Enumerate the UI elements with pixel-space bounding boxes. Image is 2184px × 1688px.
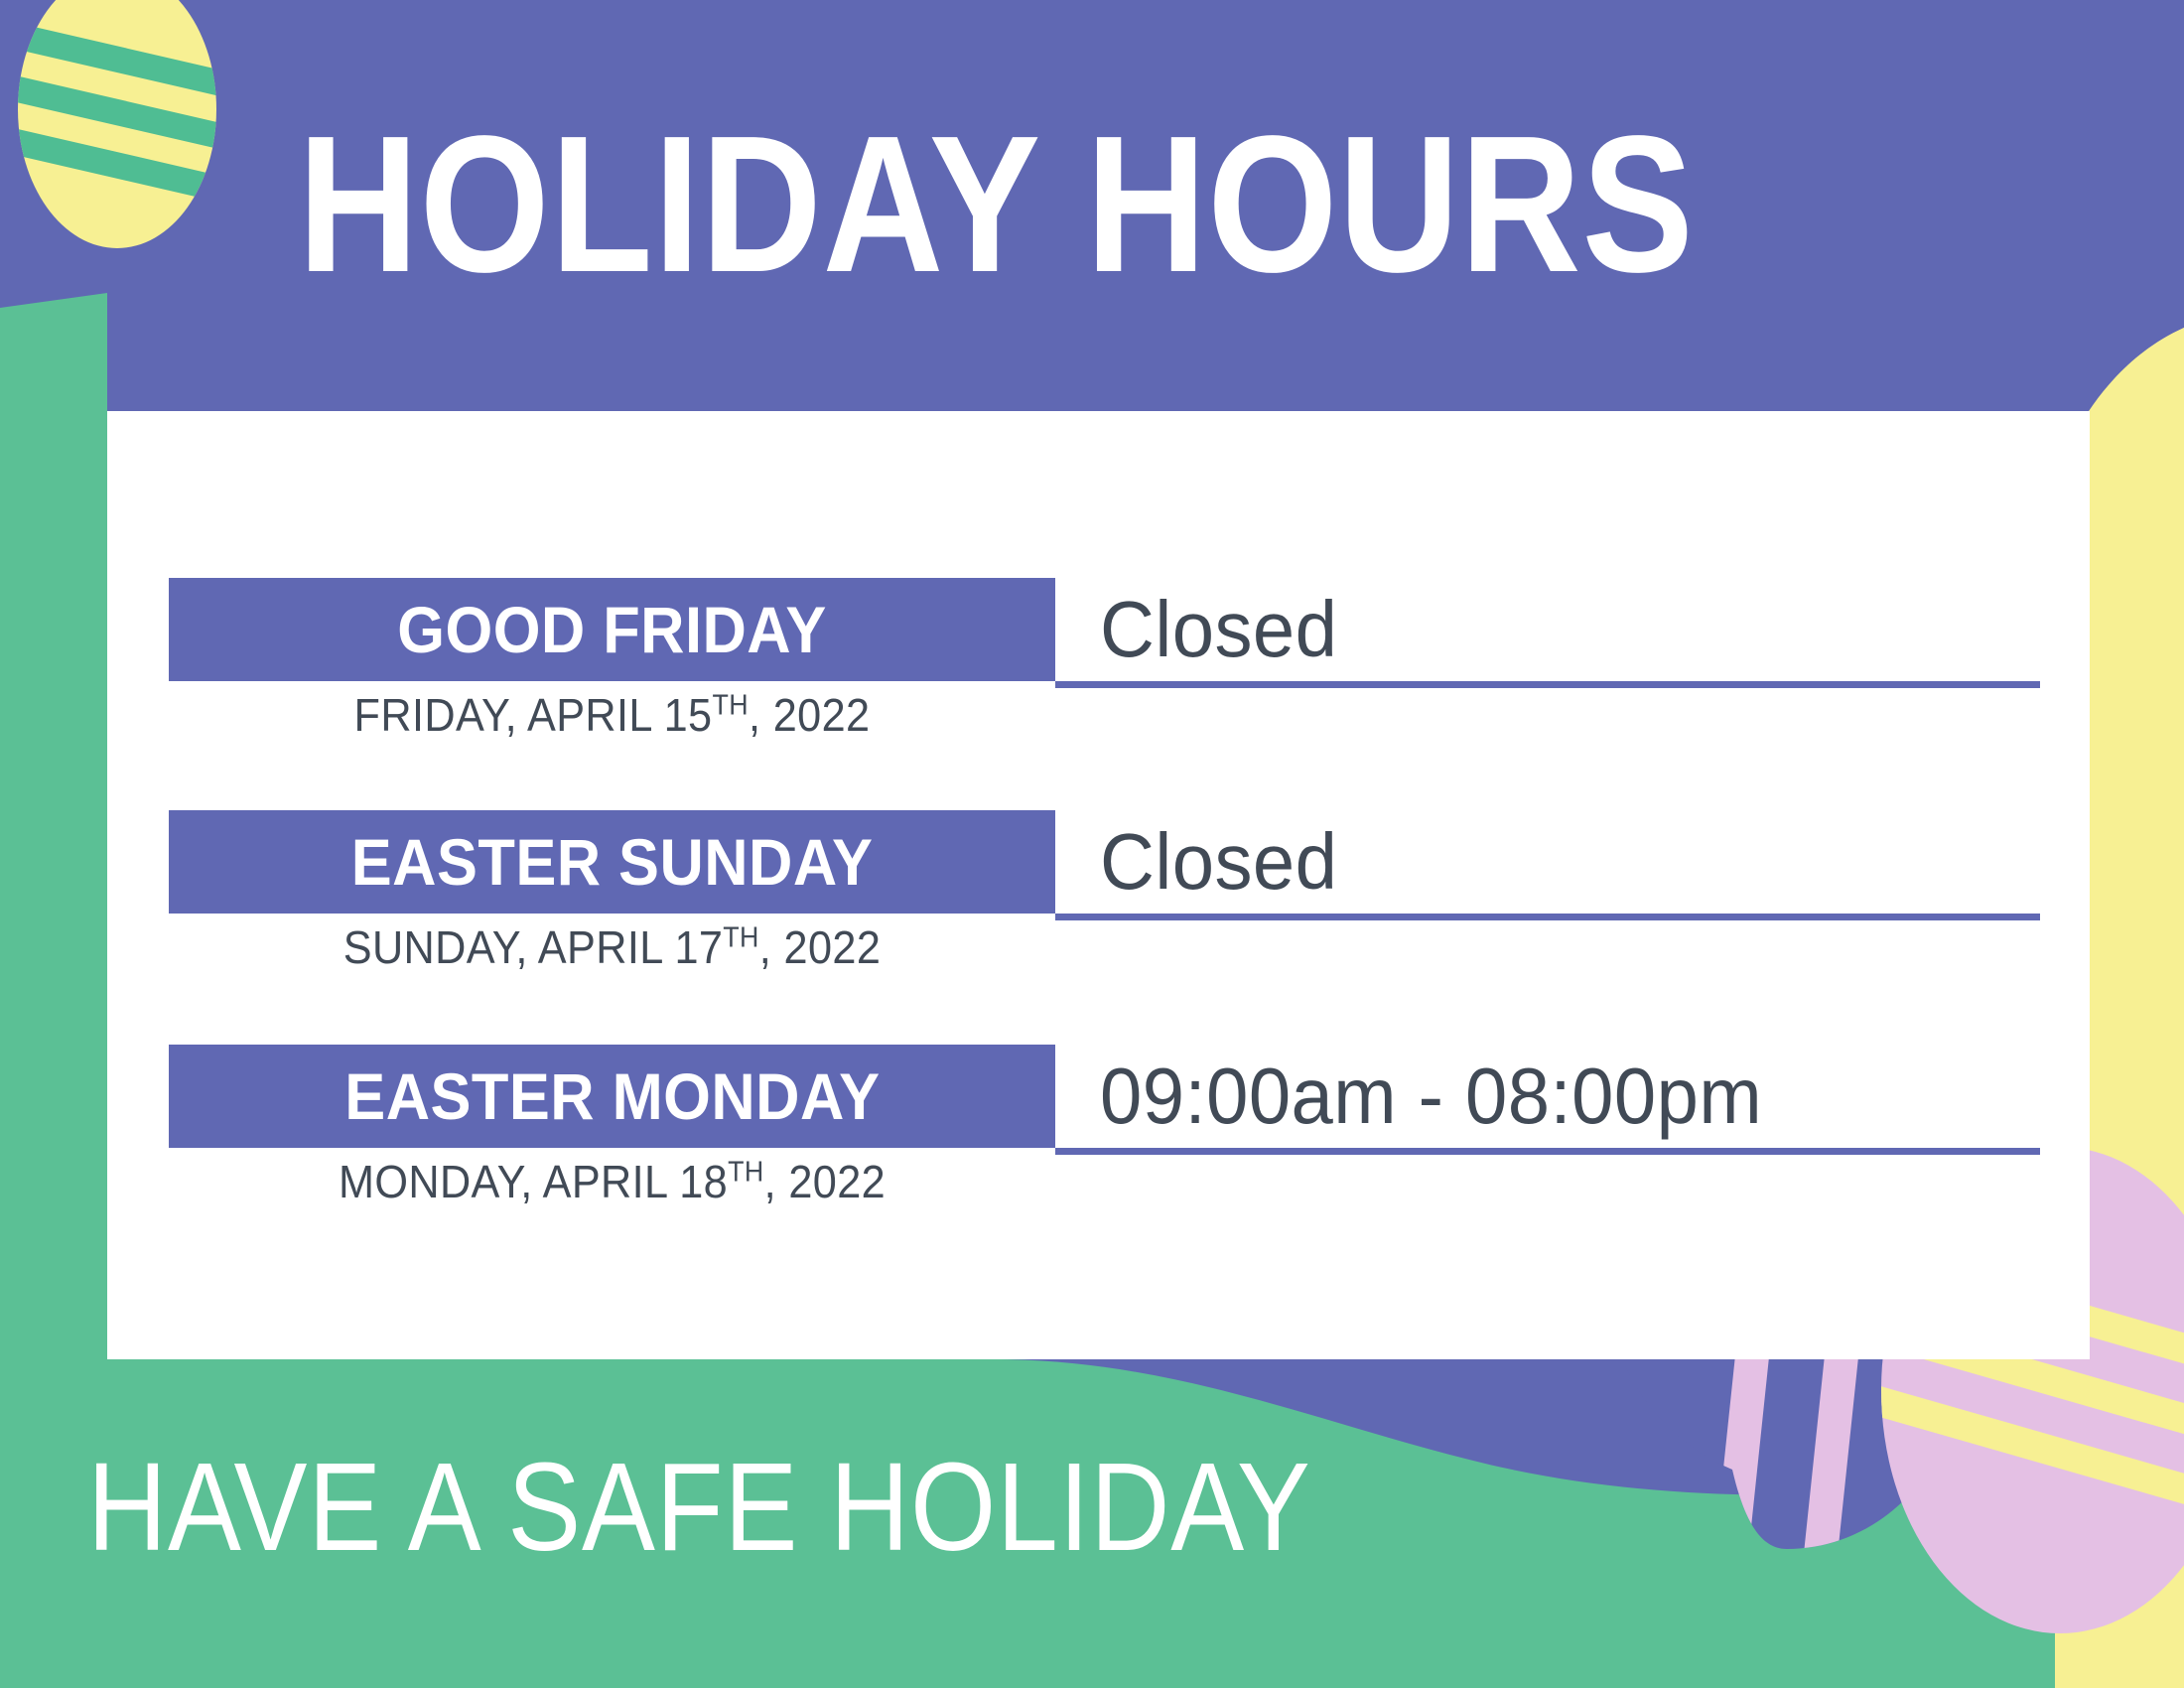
page-title: HOLIDAY HOURS (298, 107, 1695, 302)
holiday-date-prefix: SUNDAY, APRIL 17 (343, 921, 724, 973)
striped-egg-yellow-green-icon (0, 0, 327, 248)
value-underline (1055, 914, 2040, 920)
holiday-name-chip: GOOD FRIDAY (169, 578, 1055, 681)
holiday-date-ordinal: TH (723, 922, 758, 954)
holiday-hours-value: Closed (1100, 812, 2005, 912)
holiday-date-suffix: , 2022 (749, 689, 870, 741)
holiday-date-suffix: , 2022 (764, 1156, 886, 1207)
holiday-date-prefix: MONDAY, APRIL 18 (339, 1156, 728, 1207)
holiday-date-prefix: FRIDAY, APRIL 15 (354, 689, 713, 741)
holiday-name-label: EASTER SUNDAY (351, 829, 874, 895)
holiday-hours-value: Closed (1100, 580, 2005, 679)
holiday-name-chip: EASTER SUNDAY (169, 810, 1055, 914)
holiday-date-ordinal: TH (712, 690, 748, 722)
value-underline (1055, 1148, 2040, 1155)
holiday-hours-poster: HOLIDAY HOURS GOOD FRIDAY Closed FRIDAY,… (0, 0, 2184, 1688)
holiday-date: SUNDAY, APRIL 17TH, 2022 (196, 921, 1028, 973)
holiday-date-ordinal: TH (728, 1157, 763, 1189)
holiday-date: FRIDAY, APRIL 15TH, 2022 (196, 689, 1028, 741)
holiday-date: MONDAY, APRIL 18TH, 2022 (196, 1156, 1028, 1207)
schedule-rows: GOOD FRIDAY Closed FRIDAY, APRIL 15TH, 2… (107, 411, 2090, 1359)
tagline: HAVE A SAFE HOLIDAY (87, 1445, 1311, 1570)
holiday-name-label: EASTER MONDAY (344, 1063, 880, 1129)
holiday-date-suffix: , 2022 (759, 921, 881, 973)
holiday-hours-value: 09:00am - 08:00pm (1100, 1047, 2005, 1146)
holiday-name-chip: EASTER MONDAY (169, 1045, 1055, 1148)
holiday-name-label: GOOD FRIDAY (397, 597, 827, 662)
value-underline (1055, 681, 2040, 688)
